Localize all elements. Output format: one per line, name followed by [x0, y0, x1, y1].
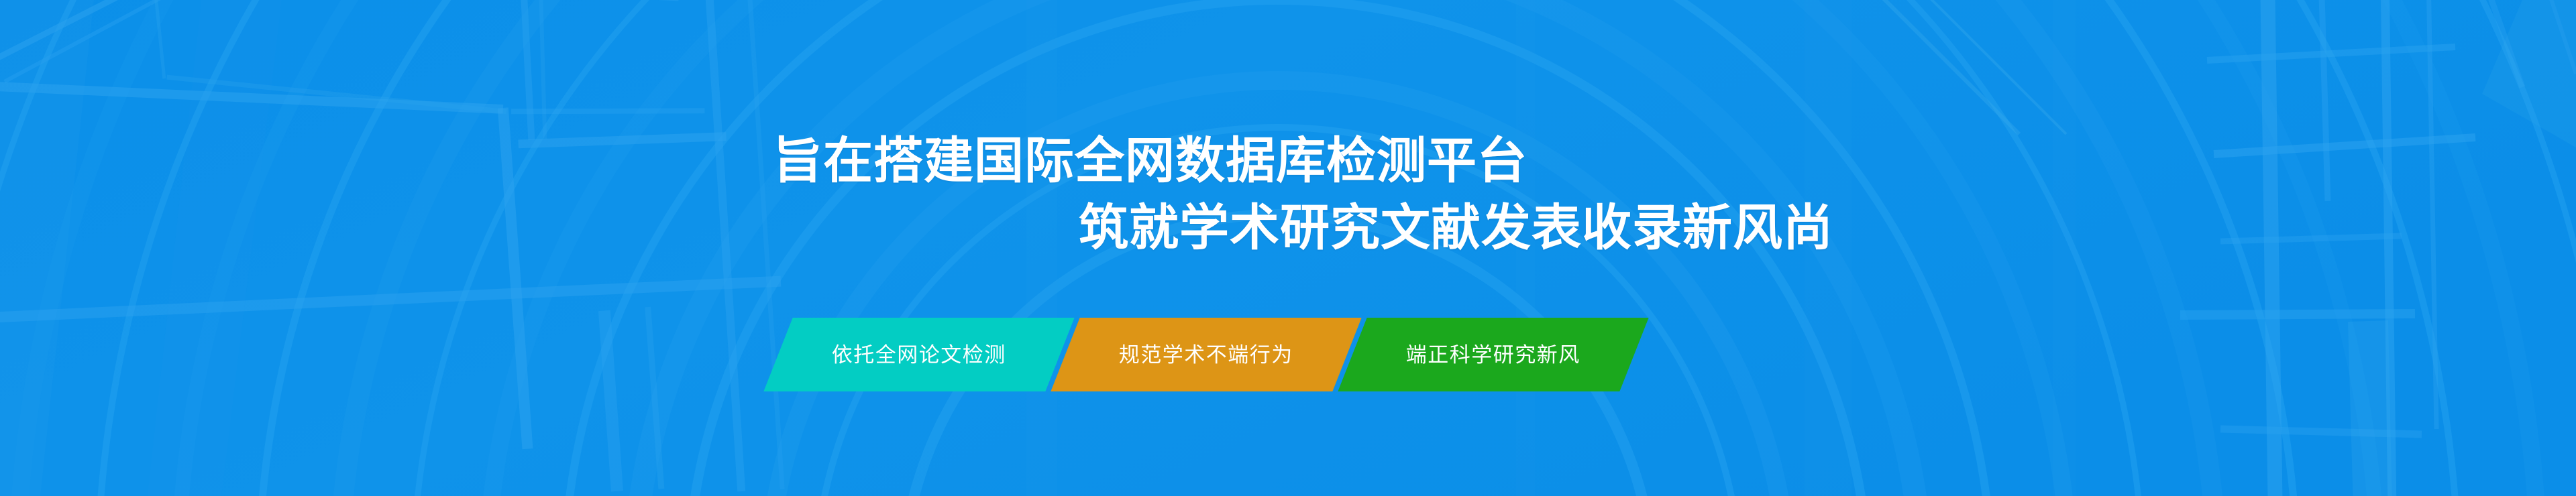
feature-badge-research-ethos-label: 端正科学研究新风: [1406, 345, 1580, 365]
feature-badge-detection-label: 依托全网论文检测: [832, 345, 1006, 365]
feature-badge-row: 依托全网论文检测 规范学术不端行为 端正科学研究新风: [778, 318, 1634, 391]
background-pattern: [0, 0, 2576, 496]
promo-banner: 旨在搭建国际全网数据库检测平台 筑就学术研究文献发表收录新风尚 依托全网论文检测…: [0, 0, 2576, 496]
feature-badge-misconduct[interactable]: 规范学术不端行为: [1051, 318, 1361, 391]
feature-badge-detection[interactable]: 依托全网论文检测: [763, 318, 1074, 391]
feature-badge-misconduct-label: 规范学术不端行为: [1119, 345, 1293, 365]
feature-badge-research-ethos[interactable]: 端正科学研究新风: [1338, 318, 1648, 391]
